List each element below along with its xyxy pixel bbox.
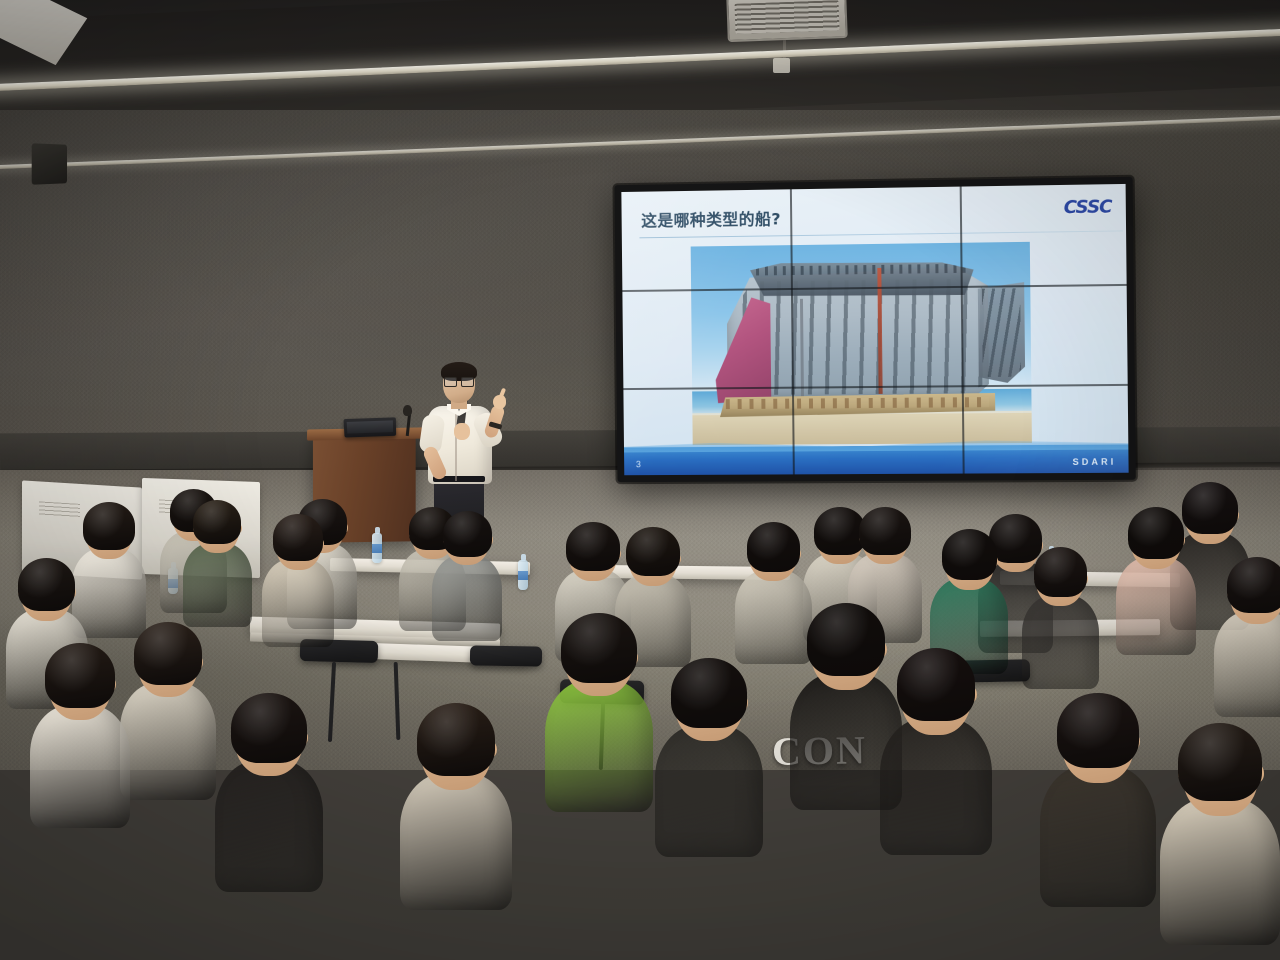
audience-member-hair xyxy=(231,693,307,763)
audience-chair[interactable] xyxy=(470,645,542,666)
audience-member xyxy=(1214,555,1280,717)
audience-member xyxy=(1022,545,1099,689)
audience-member-hair xyxy=(859,507,911,555)
ship-hull-top-deck xyxy=(750,261,974,298)
audience-member-torso xyxy=(1214,611,1280,717)
audience-member xyxy=(655,655,763,858)
audience-member-torso xyxy=(183,543,252,627)
audience-member-torso xyxy=(215,760,323,892)
audience-member-torso xyxy=(1160,798,1280,945)
audience-member xyxy=(545,610,653,813)
audience-member xyxy=(262,512,334,647)
audience-member-hair xyxy=(273,514,323,561)
lecture-hall-screenshot: 这是哪种类型的船? CSSC 3 SDARI xyxy=(0,0,1280,960)
audience-member xyxy=(30,640,130,828)
audience-member-hair xyxy=(942,529,997,580)
slide-photo xyxy=(691,242,1032,445)
audience-member xyxy=(1116,505,1196,655)
photo-shore xyxy=(692,413,1032,445)
slide-footer-bar: 3 SDARI xyxy=(624,444,1129,475)
audience-member-hair xyxy=(671,658,747,728)
audience-member xyxy=(183,498,252,627)
audience-member-hair xyxy=(83,502,135,550)
water-bottle[interactable] xyxy=(372,533,382,563)
audience-member-hair xyxy=(561,613,637,683)
audience-member-hair xyxy=(18,558,75,611)
audience-member-torso xyxy=(1040,765,1156,907)
water-bottle[interactable] xyxy=(518,560,528,590)
audience-member xyxy=(1040,690,1156,908)
ceiling-air-vent xyxy=(726,0,848,42)
audience-member-torso xyxy=(655,725,763,857)
audience-member-hair xyxy=(566,522,619,571)
audience-member-hair xyxy=(807,603,885,676)
audience-member-hair xyxy=(1057,693,1138,768)
audience-member xyxy=(215,690,323,893)
audience-member xyxy=(432,509,502,641)
slide-title-rule xyxy=(639,230,1123,238)
audience-member-torso xyxy=(30,705,130,828)
audience-member-hair xyxy=(897,648,975,721)
ship-stern-section xyxy=(978,282,1025,383)
presentation-slide: 这是哪种类型的船? CSSC 3 SDARI xyxy=(621,184,1128,475)
audience-member-torso xyxy=(545,680,653,812)
audience-member-torso xyxy=(1116,557,1196,655)
audience-member-torso xyxy=(880,718,992,855)
audience-member-torso xyxy=(400,773,512,910)
slide-page-number: 3 xyxy=(636,459,641,469)
audience-member-hair xyxy=(747,522,801,572)
sdari-logo: SDARI xyxy=(1073,457,1117,467)
audience-member-hair xyxy=(134,622,201,684)
wall-speaker xyxy=(32,143,67,184)
led-video-wall[interactable]: 这是哪种类型的船? CSSC 3 SDARI xyxy=(614,177,1135,482)
eyeglasses-icon xyxy=(444,377,474,385)
audience-member-torso xyxy=(120,682,216,800)
audience-member-torso xyxy=(1022,595,1099,689)
audience-member xyxy=(400,700,512,910)
audience-member-torso xyxy=(432,555,502,641)
audience-member xyxy=(120,620,216,800)
audience-member-hair xyxy=(1227,557,1280,613)
audience-member-hair xyxy=(626,527,679,576)
audience-member-hair xyxy=(193,500,241,545)
audience-member-hair xyxy=(1178,723,1262,801)
audience-member-hair xyxy=(443,511,492,557)
presenter-mic-hand xyxy=(454,423,470,440)
slide-title: 这是哪种类型的船? xyxy=(641,205,781,231)
audience-member-hair xyxy=(417,703,495,776)
audience-member xyxy=(1160,720,1280,945)
cssc-logo: CSSC xyxy=(1064,196,1112,218)
audience-member-hair xyxy=(1128,507,1184,559)
audience-member xyxy=(880,645,992,855)
audience-member-hair xyxy=(1034,547,1088,597)
vent-sensor-box xyxy=(773,58,790,73)
audience-member-torso xyxy=(262,559,334,647)
lectern-laptop[interactable] xyxy=(344,417,397,437)
gooseneck-mic-head-icon xyxy=(403,405,412,416)
audience-member-hair xyxy=(45,643,115,708)
